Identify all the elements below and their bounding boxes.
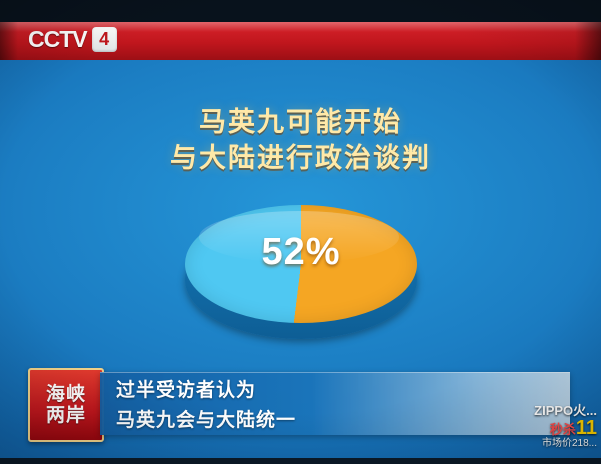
ad-price-label: 秒杀 xyxy=(550,422,576,437)
channel-banner-right-shadow xyxy=(575,22,601,60)
ad-line-2: 秒杀11 xyxy=(505,418,597,439)
ad-line-3: 市场价218... xyxy=(505,439,597,450)
lower-third-line-2: 马英九会与大陆统一 xyxy=(100,406,570,436)
letterbox-top xyxy=(0,0,601,22)
lower-third-line-1: 过半受访者认为 xyxy=(100,373,570,406)
broadcast-screen: CCTV 4 马英九可能开始 与大陆进行政治谈判 52% 海峡 两岸 过半受访者… xyxy=(0,0,601,464)
pie-slice-label: 52% xyxy=(185,231,417,274)
lower-third-banner: 过半受访者认为 马英九会与大陆统一 xyxy=(100,372,570,435)
channel-logo: CCTV 4 xyxy=(28,26,117,53)
ad-price-number: 11 xyxy=(576,417,597,439)
headline-line-2: 与大陆进行政治谈判 xyxy=(0,140,601,176)
ad-line-1: ZIPPO火... xyxy=(505,404,597,418)
page-title: 马英九可能开始 与大陆进行政治谈判 xyxy=(0,104,601,176)
program-logo-line-2: 两岸 xyxy=(46,405,86,426)
channel-logo-text: CCTV xyxy=(28,26,87,53)
program-logo-line-1: 海峡 xyxy=(46,384,86,405)
advertisement-overlay: ZIPPO火... 秒杀11 市场价218... xyxy=(505,404,597,456)
program-logo-text: 海峡 两岸 xyxy=(46,384,86,426)
pie-chart: 52% xyxy=(185,205,417,340)
letterbox-bottom xyxy=(0,458,601,464)
channel-number-badge: 4 xyxy=(92,27,117,52)
headline-line-1: 马英九可能开始 xyxy=(0,104,601,140)
program-logo: 海峡 两岸 xyxy=(28,368,104,442)
channel-banner-left-shadow xyxy=(0,22,18,60)
